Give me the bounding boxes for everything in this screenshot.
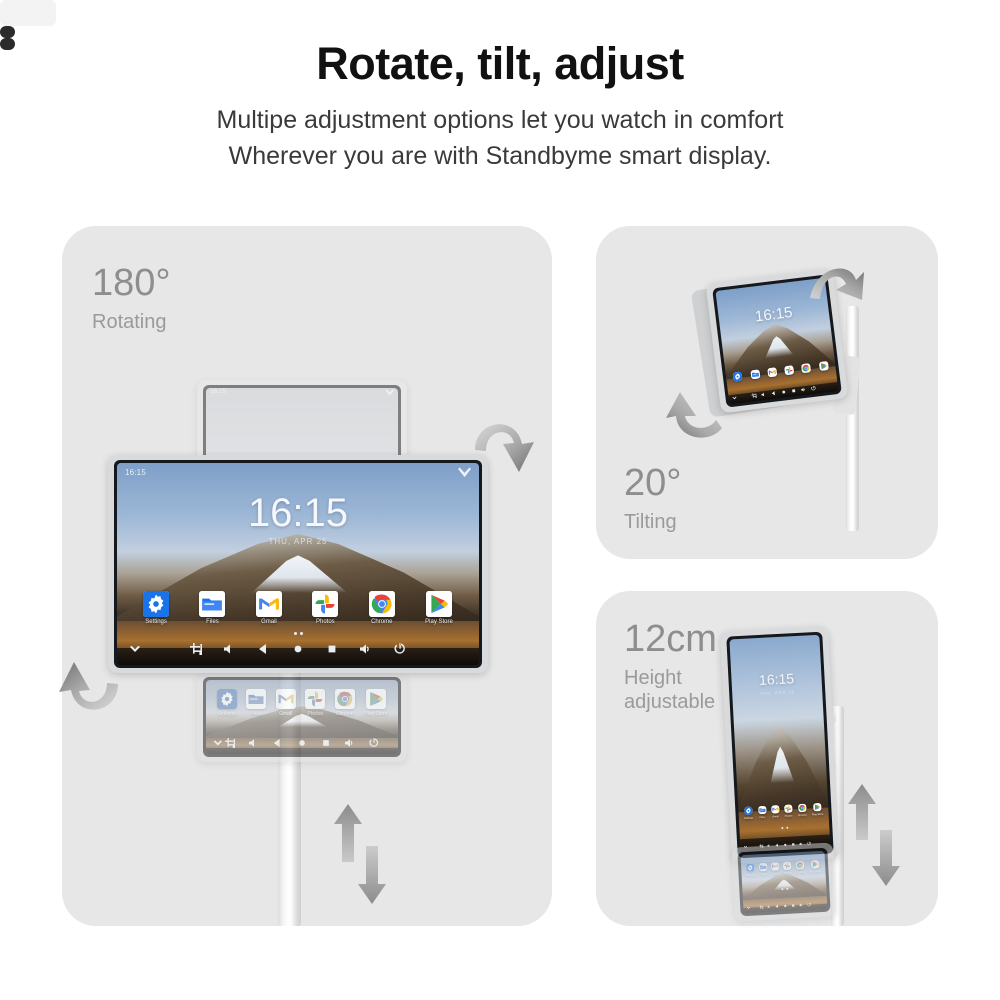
app-label: Files bbox=[206, 619, 219, 625]
app-settings[interactable]: Settings bbox=[217, 689, 237, 717]
volume-down-icon[interactable] bbox=[224, 642, 236, 660]
app-photos[interactable] bbox=[784, 366, 794, 376]
app-files[interactable] bbox=[750, 370, 760, 380]
rotating-name: Rotating bbox=[92, 311, 171, 335]
chrome-icon[interactable] bbox=[369, 591, 395, 617]
chrome-icon[interactable] bbox=[335, 689, 355, 709]
home-circle-icon[interactable] bbox=[297, 735, 307, 753]
height-name-line-1: Height bbox=[624, 667, 682, 689]
files-folder-icon[interactable] bbox=[199, 591, 225, 617]
google-photos-icon[interactable] bbox=[305, 689, 325, 709]
volume-up-icon[interactable] bbox=[360, 642, 372, 660]
app-label: Chrome bbox=[371, 619, 392, 625]
app-label: Play Store bbox=[364, 711, 387, 717]
chrome-icon[interactable] bbox=[801, 363, 811, 373]
curved-arrow-up-right-icon bbox=[806, 246, 868, 308]
power-icon[interactable] bbox=[394, 642, 406, 660]
app-chrome[interactable] bbox=[801, 363, 811, 373]
volume-down-icon[interactable] bbox=[249, 735, 259, 753]
app-dock[interactable]: SettingsFilesGmailPhotosChromePlay Store bbox=[117, 591, 479, 625]
curved-arrow-down-right-icon bbox=[472, 410, 542, 482]
volume-down-icon[interactable] bbox=[760, 383, 767, 401]
app-chrome[interactable]: Chrome bbox=[369, 591, 395, 625]
app-label: Files bbox=[251, 711, 262, 717]
ghost-tablet-bottom: SettingsFilesGmailPhotosChromePlay Store bbox=[197, 672, 407, 762]
chevron-down-icon[interactable] bbox=[731, 387, 738, 404]
app-settings[interactable]: Settings bbox=[743, 807, 753, 820]
settings-gear-icon[interactable] bbox=[744, 807, 752, 815]
chrome-icon[interactable] bbox=[798, 804, 806, 812]
back-triangle-icon[interactable] bbox=[770, 382, 777, 400]
app-gmail[interactable]: Gmail bbox=[256, 591, 282, 625]
power-icon[interactable] bbox=[807, 894, 812, 912]
stand-pole-tilting bbox=[846, 306, 859, 531]
app-settings[interactable]: Settings bbox=[143, 591, 169, 625]
app-label: Play Store bbox=[809, 870, 821, 874]
files-folder-icon[interactable] bbox=[759, 863, 767, 871]
app-label: Gmail bbox=[279, 711, 292, 717]
app-label: Files bbox=[760, 816, 765, 819]
label-tilting: 20° Tilting bbox=[624, 464, 681, 535]
tablet-main[interactable]: 16:15 16:15 THU, APR 25 SettingsFilesGma… bbox=[108, 455, 488, 673]
subtitle-line-2: Wherever you are with Standbyme smart di… bbox=[0, 139, 1000, 175]
volume-up-icon[interactable] bbox=[799, 379, 806, 397]
wifi-icon bbox=[458, 467, 471, 477]
app-label: Chrome bbox=[798, 814, 807, 817]
app-label: Photos bbox=[785, 815, 793, 818]
volume-up-icon[interactable] bbox=[345, 735, 355, 753]
screenshot-crop-icon[interactable] bbox=[759, 896, 764, 913]
wifi-icon bbox=[386, 389, 394, 395]
app-play-store[interactable]: Play Store bbox=[364, 689, 387, 717]
page-dot[interactable] bbox=[781, 888, 783, 890]
page-dot[interactable] bbox=[300, 632, 303, 635]
label-height-adjustable: 12cm Height adjustable bbox=[624, 620, 717, 714]
app-label: Chrome bbox=[796, 871, 805, 874]
recents-square-icon[interactable] bbox=[791, 895, 796, 913]
play-store-icon[interactable] bbox=[366, 689, 386, 709]
app-files[interactable]: Files bbox=[199, 591, 225, 625]
screenshot-crop-icon[interactable] bbox=[225, 735, 235, 753]
home-circle-icon[interactable] bbox=[779, 381, 786, 399]
app-files[interactable]: Files bbox=[759, 863, 768, 876]
gmail-envelope-icon[interactable] bbox=[771, 806, 779, 814]
app-play-store[interactable] bbox=[819, 361, 829, 371]
app-chrome[interactable]: Chrome bbox=[335, 689, 355, 717]
app-gmail[interactable]: Gmail bbox=[276, 689, 296, 717]
play-store-icon[interactable] bbox=[813, 803, 821, 811]
page-dot[interactable] bbox=[304, 718, 307, 721]
app-gmail[interactable]: Gmail bbox=[771, 862, 780, 875]
chevron-down-icon[interactable] bbox=[745, 897, 750, 913]
google-photos-icon[interactable] bbox=[784, 366, 794, 376]
gmail-envelope-icon[interactable] bbox=[771, 862, 779, 870]
portrait-clock-time: 16:15 bbox=[731, 669, 822, 688]
app-photos[interactable]: Photos bbox=[312, 591, 338, 625]
app-files[interactable]: Files bbox=[246, 689, 266, 717]
power-icon[interactable] bbox=[809, 377, 816, 395]
app-play-store[interactable]: Play Store bbox=[425, 591, 453, 625]
app-label: Gmail bbox=[772, 816, 779, 819]
files-folder-icon[interactable] bbox=[750, 370, 760, 380]
home-circle-icon[interactable] bbox=[292, 642, 304, 660]
app-photos[interactable]: Photos bbox=[305, 689, 325, 717]
play-store-icon[interactable] bbox=[426, 591, 452, 617]
page-dot[interactable] bbox=[781, 827, 783, 829]
page-dot[interactable] bbox=[786, 827, 788, 829]
page-indicator-dots bbox=[117, 632, 479, 635]
tablet-screen[interactable]: 16:15 16:15 THU, APR 25 SettingsFilesGma… bbox=[117, 463, 479, 665]
height-value: 12cm bbox=[624, 620, 717, 658]
back-triangle-icon[interactable] bbox=[775, 895, 780, 913]
chevron-down-icon[interactable] bbox=[212, 735, 222, 753]
screenshot-crop-icon[interactable] bbox=[190, 642, 202, 660]
tilting-value: 20° bbox=[624, 464, 681, 502]
lockscreen-clock-widget: 16:15 THU, APR 25 bbox=[117, 493, 479, 546]
play-store-icon[interactable] bbox=[819, 361, 829, 371]
portrait-clock-date: THU, APR 25 bbox=[732, 687, 822, 697]
back-triangle-icon[interactable] bbox=[273, 735, 283, 753]
page-title: Rotate, tilt, adjust bbox=[0, 40, 1000, 87]
back-triangle-icon[interactable] bbox=[258, 642, 270, 660]
vertical-double-arrow-icon bbox=[846, 780, 900, 890]
home-circle-icon[interactable] bbox=[783, 895, 788, 913]
app-play-store[interactable]: Play Store bbox=[811, 803, 823, 817]
gmail-envelope-icon[interactable] bbox=[256, 591, 282, 617]
page-dot[interactable] bbox=[294, 632, 297, 635]
app-label: Gmail bbox=[772, 873, 779, 876]
recents-square-icon[interactable] bbox=[789, 380, 796, 398]
gmail-envelope-icon[interactable] bbox=[276, 689, 296, 709]
app-settings[interactable]: Settings bbox=[746, 864, 756, 877]
app-settings[interactable] bbox=[733, 372, 743, 382]
status-bar: 16:15 bbox=[117, 463, 479, 481]
app-photos[interactable]: Photos bbox=[784, 805, 793, 818]
app-label: Play Store bbox=[812, 813, 824, 817]
app-label: Files bbox=[761, 873, 766, 876]
files-folder-icon[interactable] bbox=[758, 806, 766, 814]
rotating-value: 180° bbox=[92, 264, 171, 302]
chevron-down-icon[interactable] bbox=[128, 642, 140, 660]
app-chrome[interactable]: Chrome bbox=[796, 861, 806, 874]
recents-square-icon[interactable] bbox=[326, 642, 338, 660]
settings-gear-icon[interactable] bbox=[733, 372, 743, 382]
tablet-bezel: 16:15 16:15 THU, APR 25 SettingsFilesGma… bbox=[114, 460, 482, 668]
settings-gear-icon[interactable] bbox=[143, 591, 169, 617]
app-photos[interactable]: Photos bbox=[783, 862, 792, 875]
curved-arrow-up-left-icon bbox=[52, 648, 122, 722]
app-label: Photos bbox=[316, 619, 335, 625]
volume-down-icon[interactable] bbox=[767, 896, 772, 913]
volume-up-icon[interactable] bbox=[799, 894, 804, 912]
vertical-double-arrow-icon bbox=[330, 800, 390, 908]
google-photos-icon[interactable] bbox=[784, 805, 792, 813]
tilting-name: Tilting bbox=[624, 511, 681, 535]
app-gmail[interactable]: Gmail bbox=[771, 806, 780, 819]
google-photos-icon[interactable] bbox=[783, 862, 791, 870]
clock-date: THU, APR 25 bbox=[117, 537, 479, 546]
recents-square-icon[interactable] bbox=[321, 735, 331, 753]
clock-time: 16:15 bbox=[117, 493, 479, 533]
screenshot-crop-icon[interactable] bbox=[750, 385, 757, 403]
settings-gear-icon[interactable] bbox=[217, 689, 237, 709]
files-folder-icon[interactable] bbox=[246, 689, 266, 709]
height-name-line-2: adjustable bbox=[624, 691, 715, 713]
app-label: Gmail bbox=[261, 619, 277, 625]
app-label: Photos bbox=[307, 711, 323, 717]
app-label: Settings bbox=[744, 817, 753, 820]
google-photos-icon[interactable] bbox=[312, 591, 338, 617]
header: Rotate, tilt, adjust Multipe adjustment … bbox=[0, 0, 1000, 174]
app-label: Chrome bbox=[336, 711, 354, 717]
app-files[interactable]: Files bbox=[758, 806, 767, 819]
power-icon[interactable] bbox=[369, 735, 379, 753]
status-bar-time: 16:15 bbox=[125, 468, 146, 477]
tablet-portrait[interactable]: 16:15 THU, APR 25 SettingsFilesGmailPhot… bbox=[720, 626, 840, 863]
app-label: Settings bbox=[217, 711, 235, 717]
chrome-icon[interactable] bbox=[796, 861, 804, 869]
subtitle-line-1: Multipe adjustment options let you watch… bbox=[0, 103, 1000, 139]
ghost-status-time: 16:15 bbox=[210, 389, 226, 395]
app-label: Photos bbox=[784, 872, 792, 875]
app-label: Settings bbox=[746, 874, 755, 877]
navigation-bar[interactable] bbox=[117, 637, 479, 665]
page-dot[interactable] bbox=[786, 888, 788, 890]
app-label: Play Store bbox=[425, 619, 453, 625]
curved-arrow-down-left-icon bbox=[662, 382, 726, 444]
app-chrome[interactable]: Chrome bbox=[797, 804, 807, 817]
play-store-icon[interactable] bbox=[810, 860, 818, 868]
app-label: Settings bbox=[145, 619, 167, 625]
ghost-tablet-portrait: SettingsFilesGmailPhotosChromePlay Store bbox=[731, 842, 837, 921]
app-play-store[interactable]: Play Store bbox=[809, 860, 821, 874]
gmail-envelope-icon[interactable] bbox=[767, 368, 777, 378]
app-gmail[interactable] bbox=[767, 368, 777, 378]
settings-gear-icon[interactable] bbox=[746, 864, 754, 872]
label-rotating: 180° Rotating bbox=[92, 264, 171, 335]
page-dot[interactable] bbox=[298, 718, 301, 721]
